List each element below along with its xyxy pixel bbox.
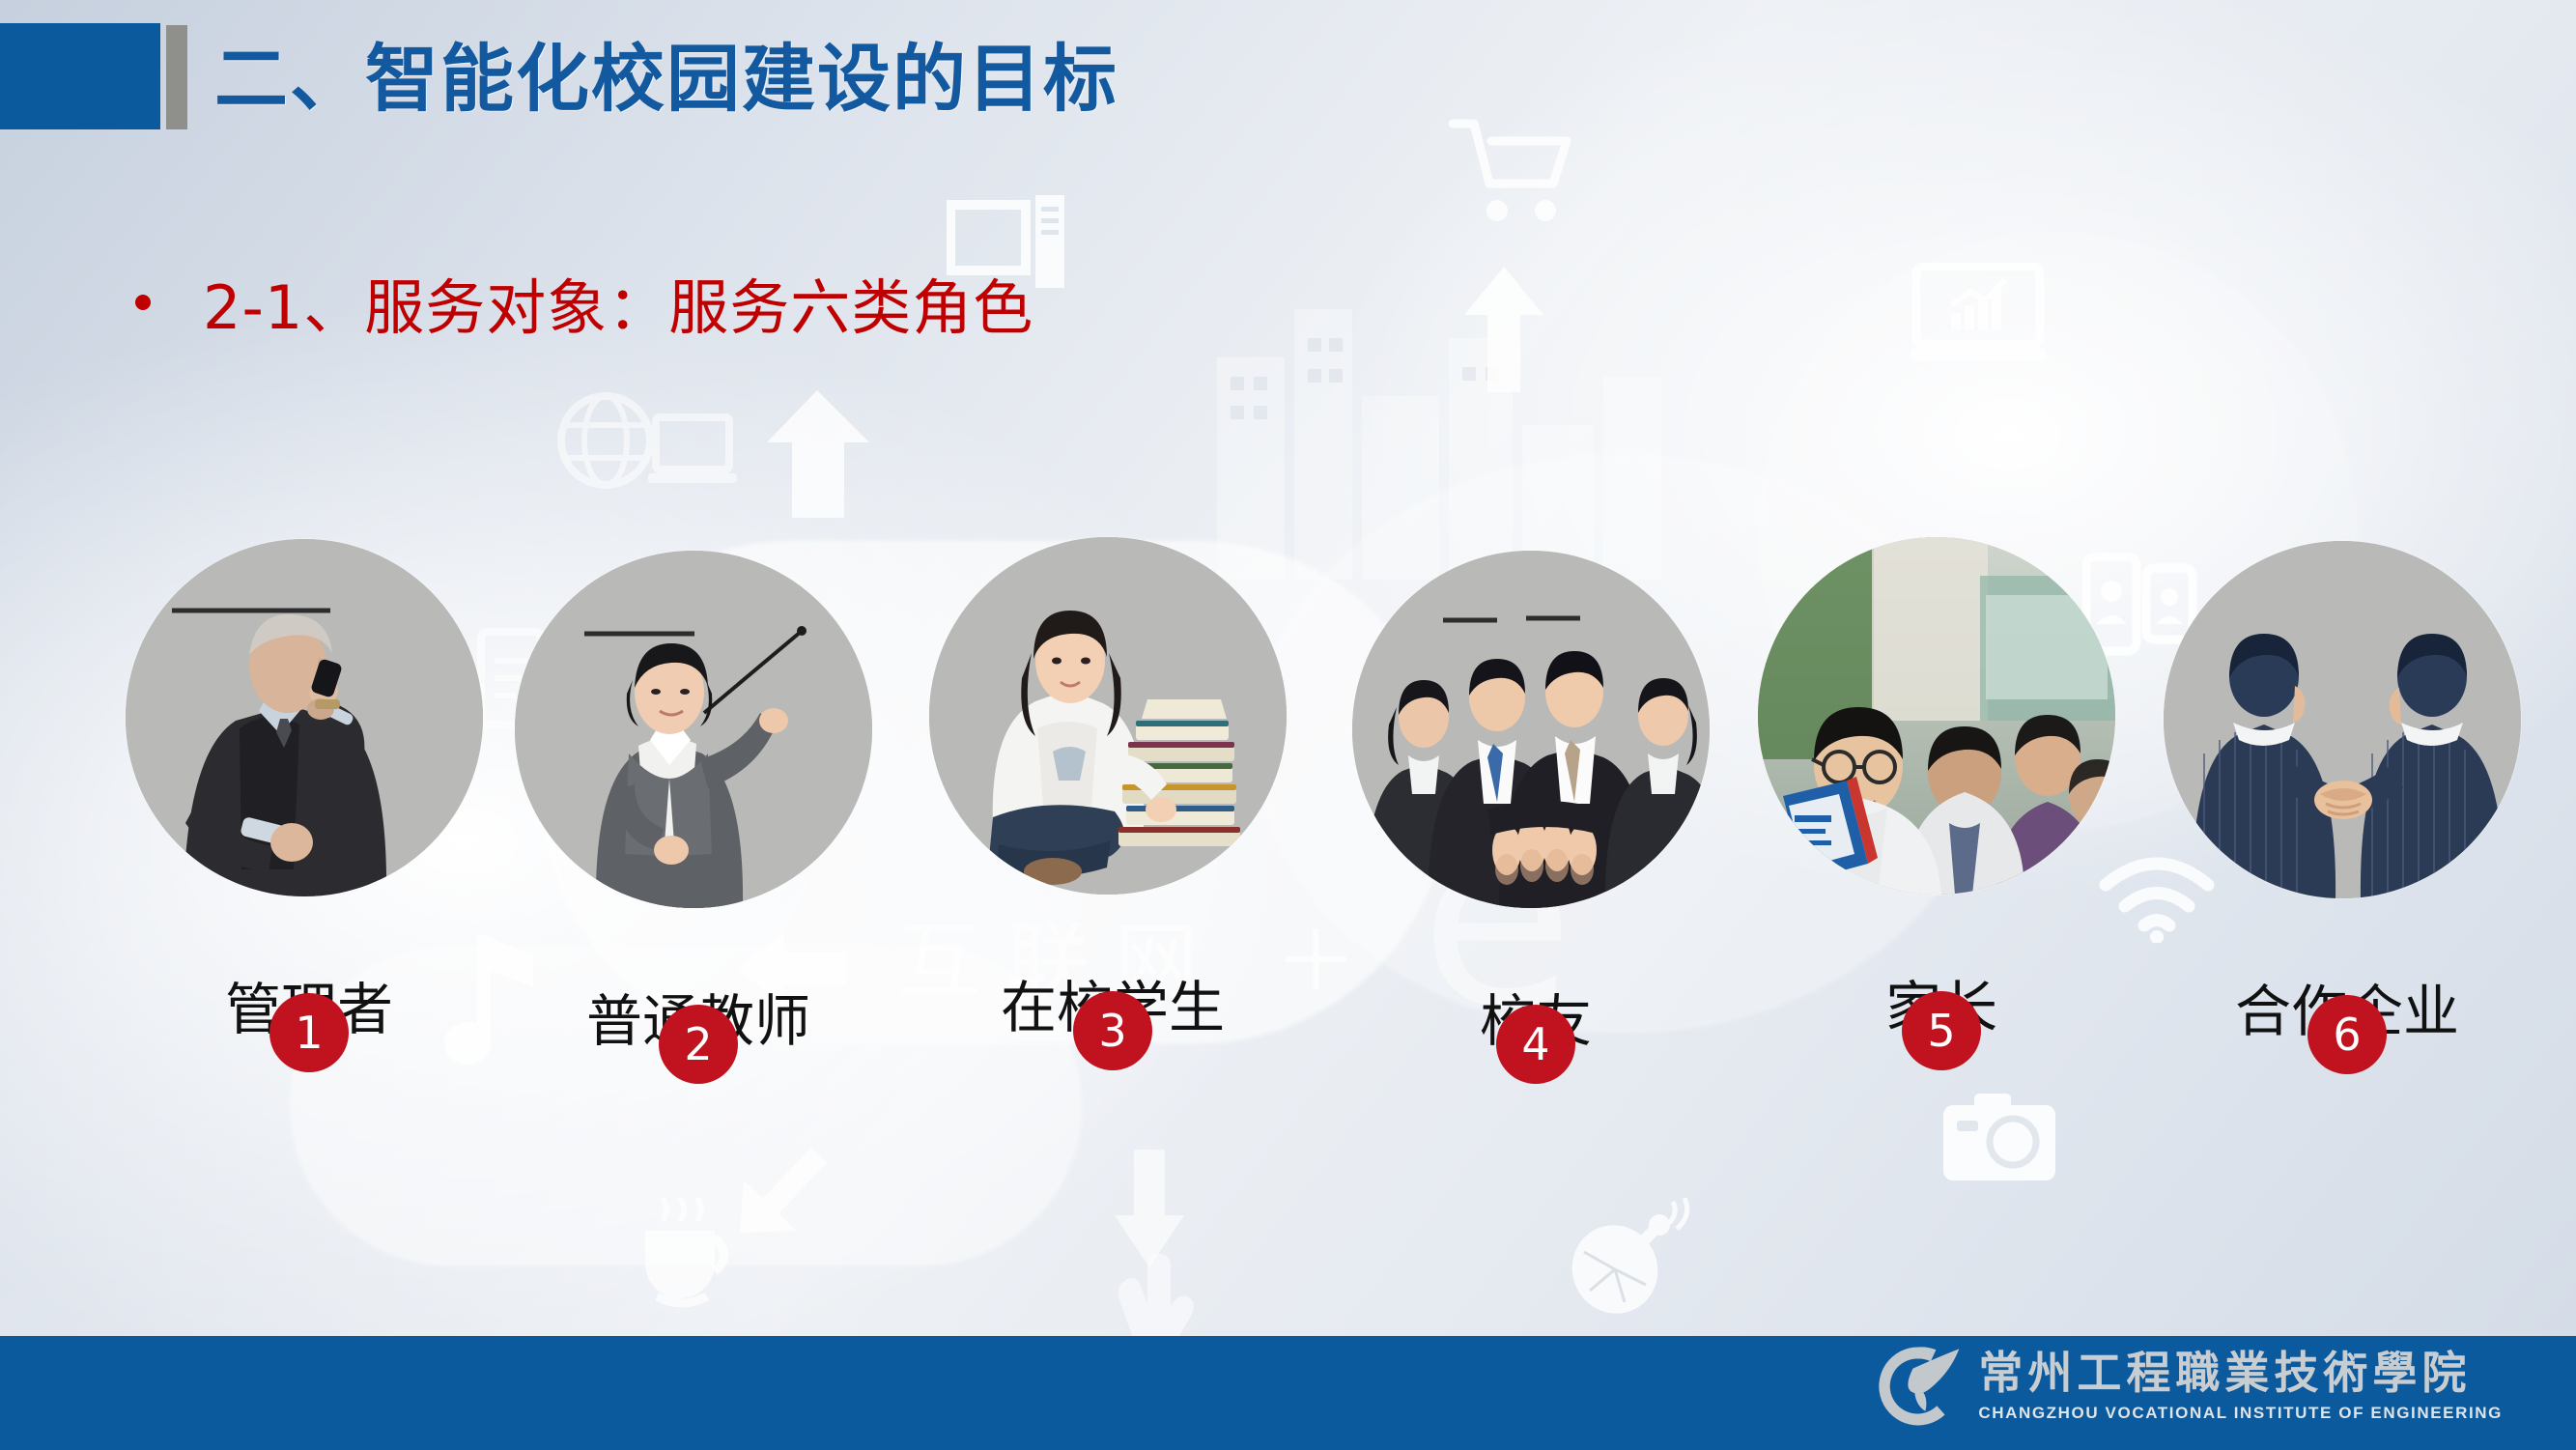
role-photo-circle: [929, 537, 1287, 895]
crowd-of-parents-photo: [1758, 537, 2115, 895]
school-logo: 常州工程職業技術學院 CHANGZHOU VOCATIONAL INSTITUT…: [1874, 1342, 2503, 1431]
school-name-cn: 常州工程職業技術學院: [1978, 1350, 2503, 1396]
role-photo-circle: [2164, 541, 2521, 898]
role-item[interactable]: 2 普通教师: [515, 551, 882, 1057]
role-number-badge: 3: [1073, 991, 1152, 1070]
role-number-badge: 2: [659, 1005, 738, 1084]
role-photo-circle: [126, 539, 483, 896]
role-item[interactable]: 1 管理者: [126, 539, 493, 1045]
role-list: 1 管理者: [0, 0, 2576, 1450]
role-item[interactable]: 5 家长: [1758, 537, 2125, 1043]
role-number-badge: 6: [2307, 995, 2387, 1074]
role-photo-circle: [515, 551, 872, 908]
female-teacher-pointer-photo: [515, 551, 872, 908]
role-photo-circle: [1352, 551, 1710, 908]
school-emblem-icon: [1874, 1342, 1963, 1431]
footer-bar: 常州工程職業技術學院 CHANGZHOU VOCATIONAL INSTITUT…: [0, 1336, 2576, 1450]
role-number-badge: 1: [269, 993, 349, 1072]
role-item[interactable]: 3 在校学生: [929, 537, 1296, 1043]
role-photo-circle: [1758, 537, 2115, 895]
slide-canvas: e: [0, 0, 2576, 1450]
role-number-badge: 5: [1902, 991, 1981, 1070]
role-number-badge: 4: [1496, 1005, 1575, 1084]
role-item[interactable]: 6 合作企业: [2164, 541, 2531, 1047]
group-of-alumni-photo: [1352, 551, 1710, 908]
businessman-on-phone-photo: [126, 539, 483, 896]
student-sitting-with-books-photo: [929, 537, 1287, 895]
school-name-en: CHANGZHOU VOCATIONAL INSTITUTE OF ENGINE…: [1978, 1404, 2503, 1423]
role-item[interactable]: 4 校友: [1352, 551, 1719, 1057]
businessmen-handshake-photo: [2164, 541, 2521, 898]
